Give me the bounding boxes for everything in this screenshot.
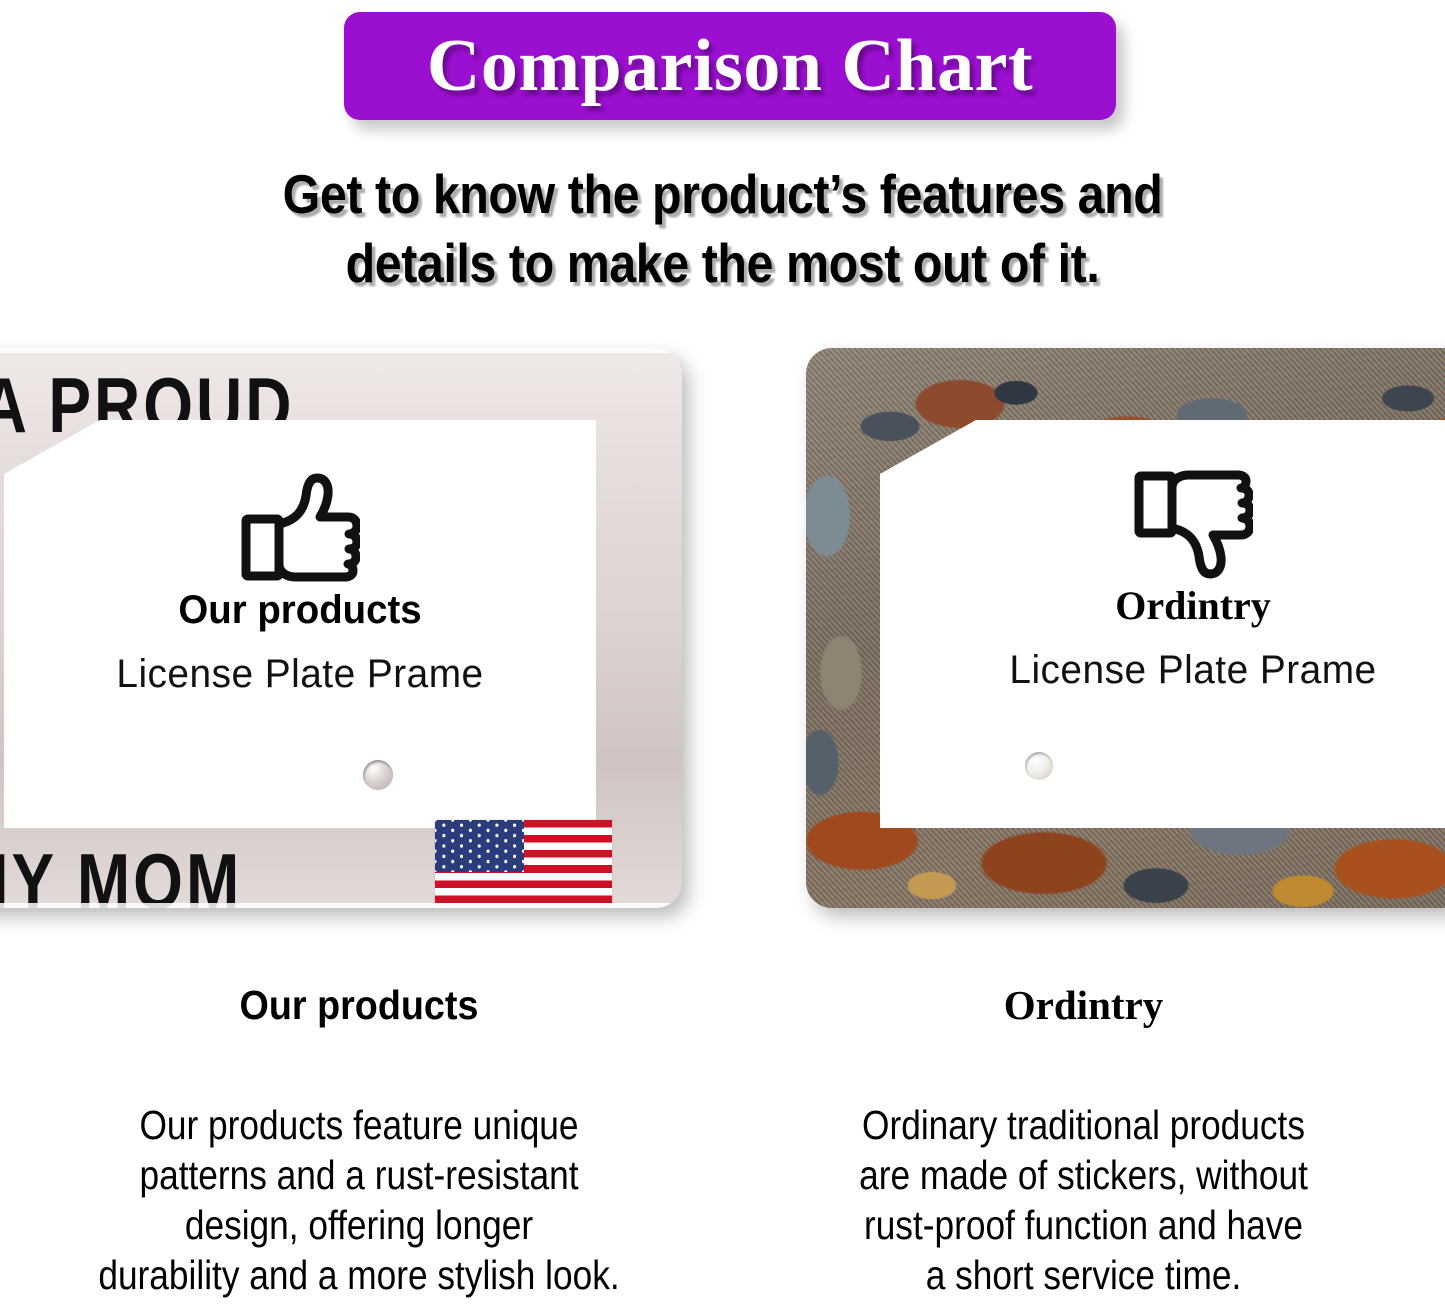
ordinary-products-column: Ordintry Ordinary traditional products a… [722, 985, 1445, 1300]
subtitle-line-1: Get to know the product’s features and [87, 160, 1359, 229]
ordinary-products-description: Ordinary traditional products are made o… [773, 1100, 1395, 1300]
ordinary-products-heading: Ordintry [722, 985, 1445, 1026]
our-products-column: Our products Our products feature unique… [0, 985, 718, 1300]
comparison-chart-banner: Comparison Chart [344, 12, 1116, 120]
license-plate-window-bad: Ordintry License Plate Prame [880, 420, 1445, 828]
page-title: Comparison Chart [427, 29, 1033, 103]
good-window-content: Our products License Plate Prame [4, 472, 596, 694]
our-products-heading: Our products [29, 985, 690, 1026]
good-window-label: Our products [16, 590, 584, 630]
bad-window-label: Ordintry [880, 586, 1445, 626]
frame-top-sheen [0, 348, 682, 353]
license-plate-window-good: Our products License Plate Prame [4, 420, 596, 828]
plate-engraved-text-bottom: RMY MOM [0, 842, 242, 908]
subtitle-block: Get to know the product’s features and d… [0, 160, 1445, 298]
subtitle-line-2: details to make the most out of it. [87, 229, 1359, 298]
our-products-description: Our products feature unique patterns and… [50, 1100, 667, 1300]
product-comparison-images: M A PROUD Our products License Plate Pra… [0, 348, 1445, 914]
mounting-hole-bad [1025, 752, 1053, 780]
good-window-sublabel: License Plate Prame [13, 654, 587, 694]
ordinary-product-license-plate-frame: Ordintry License Plate Prame [806, 348, 1445, 908]
thumbs-up-icon [4, 472, 596, 584]
mounting-hole-good [363, 760, 393, 790]
bad-window-content: Ordintry License Plate Prame [880, 468, 1445, 690]
us-flag [435, 820, 612, 908]
our-product-license-plate-frame: M A PROUD Our products License Plate Pra… [0, 348, 682, 908]
bad-window-sublabel: License Plate Prame [889, 650, 1445, 690]
frame-bottom-sheen [0, 903, 682, 908]
thumbs-down-icon [880, 468, 1445, 580]
flag-canton [435, 820, 524, 872]
